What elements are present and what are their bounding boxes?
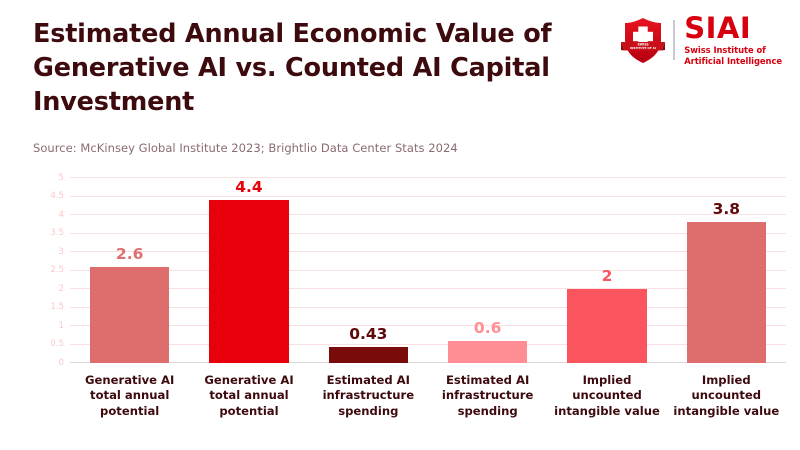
bar-column[interactable]: 2 bbox=[547, 178, 666, 363]
x-axis-category-line: uncounted bbox=[671, 388, 782, 403]
page-title: Estimated Annual Economic Value of Gener… bbox=[33, 18, 633, 120]
title-line-1: Estimated Annual Economic Value of bbox=[33, 18, 633, 52]
bar-column[interactable]: 4.4 bbox=[189, 178, 308, 363]
x-axis-category-line: infrastructure bbox=[313, 388, 424, 403]
x-axis-category-line: intangible value bbox=[671, 404, 782, 419]
x-axis-category-line: spending bbox=[432, 404, 543, 419]
x-axis-category-label: Generative AItotal annualpotential bbox=[189, 373, 308, 419]
x-axis-category-line: potential bbox=[193, 404, 304, 419]
x-axis-category-line: Implied bbox=[551, 373, 662, 388]
logo-name: SIAI bbox=[684, 14, 782, 43]
x-axis-category-line: Implied bbox=[671, 373, 782, 388]
bar-chart: 00.511.522.533.544.55 2.64.40.430.623.8 … bbox=[0, 168, 800, 450]
bar-column[interactable]: 0.6 bbox=[428, 178, 547, 363]
x-axis-category-line: intangible value bbox=[551, 404, 662, 419]
x-axis-category-label: Implieduncountedintangible value bbox=[547, 373, 666, 419]
x-axis-category-line: total annual bbox=[193, 388, 304, 403]
y-axis-tick-label: 4 bbox=[59, 210, 64, 220]
x-axis-labels: Generative AItotal annualpotentialGenera… bbox=[70, 373, 786, 419]
bar[interactable] bbox=[448, 341, 527, 363]
y-axis-tick-label: 5 bbox=[59, 173, 64, 183]
y-axis-tick-label: 2 bbox=[59, 284, 64, 294]
x-axis-category-label: Generative AItotal annualpotential bbox=[70, 373, 189, 419]
source-caption: Source: McKinsey Global Institute 2023; … bbox=[33, 141, 458, 155]
bar-value-label: 3.8 bbox=[667, 200, 786, 218]
logo-tagline-line-2: Artificial Intelligence bbox=[684, 56, 782, 66]
y-axis-tick-label: 4.5 bbox=[50, 191, 64, 201]
bar-column[interactable]: 0.43 bbox=[309, 178, 428, 363]
bar[interactable] bbox=[567, 289, 646, 363]
bar-column[interactable]: 3.8 bbox=[667, 178, 786, 363]
y-axis-tick-label: 3.5 bbox=[50, 228, 64, 238]
bar-value-label: 0.6 bbox=[428, 319, 547, 337]
y-axis-tick-label: 1.5 bbox=[50, 302, 64, 312]
x-axis-category-line: Estimated AI bbox=[313, 373, 424, 388]
y-axis-tick-label: 0.5 bbox=[50, 339, 64, 349]
x-axis-category-line: Estimated AI bbox=[432, 373, 543, 388]
x-axis-category-label: Estimated AIinfrastructurespending bbox=[309, 373, 428, 419]
x-axis-category-label: Estimated AIinfrastructurespending bbox=[428, 373, 547, 419]
x-axis-category-line: infrastructure bbox=[432, 388, 543, 403]
logo-tagline: Swiss Institute of Artificial Intelligen… bbox=[684, 45, 782, 66]
bar-series: 2.64.40.430.623.8 bbox=[70, 178, 786, 363]
y-axis-tick-label: 2.5 bbox=[50, 265, 64, 275]
bar[interactable] bbox=[209, 200, 288, 363]
logo-divider bbox=[673, 20, 675, 60]
plot-area: 00.511.522.533.544.55 2.64.40.430.623.8 bbox=[70, 178, 786, 363]
bar-value-label: 2 bbox=[547, 267, 666, 285]
svg-text:INSTITUTE OF AI: INSTITUTE OF AI bbox=[630, 46, 656, 50]
y-axis-tick-label: 0 bbox=[59, 358, 64, 368]
x-axis-category-label: Implieduncountedintangible value bbox=[667, 373, 786, 419]
title-line-3: Investment bbox=[33, 86, 633, 120]
siai-logo: SWISS INSTITUTE OF AI SIAI Swiss Institu… bbox=[617, 14, 782, 66]
bar[interactable] bbox=[329, 347, 408, 363]
logo-tagline-line-1: Swiss Institute of bbox=[684, 45, 782, 55]
bar-value-label: 0.43 bbox=[309, 325, 428, 343]
logo-wordmark: SIAI Swiss Institute of Artificial Intel… bbox=[684, 14, 782, 66]
x-axis-category-line: uncounted bbox=[551, 388, 662, 403]
bar-value-label: 2.6 bbox=[70, 245, 189, 263]
x-axis-category-line: Generative AI bbox=[74, 373, 185, 388]
bar[interactable] bbox=[687, 222, 766, 363]
bar-value-label: 4.4 bbox=[189, 178, 308, 196]
bar[interactable] bbox=[90, 267, 169, 363]
x-axis-category-line: spending bbox=[313, 404, 424, 419]
title-line-2: Generative AI vs. Counted AI Capital bbox=[33, 52, 633, 86]
y-axis-tick-label: 3 bbox=[59, 247, 64, 257]
x-axis-category-line: total annual bbox=[74, 388, 185, 403]
chart-header: Estimated Annual Economic Value of Gener… bbox=[0, 0, 800, 168]
x-axis-category-line: potential bbox=[74, 404, 185, 419]
chart-page: Estimated Annual Economic Value of Gener… bbox=[0, 0, 800, 450]
y-axis-tick-label: 1 bbox=[59, 321, 64, 331]
swiss-shield-icon: SWISS INSTITUTE OF AI bbox=[617, 14, 669, 66]
x-axis-category-line: Generative AI bbox=[193, 373, 304, 388]
bar-column[interactable]: 2.6 bbox=[70, 178, 189, 363]
